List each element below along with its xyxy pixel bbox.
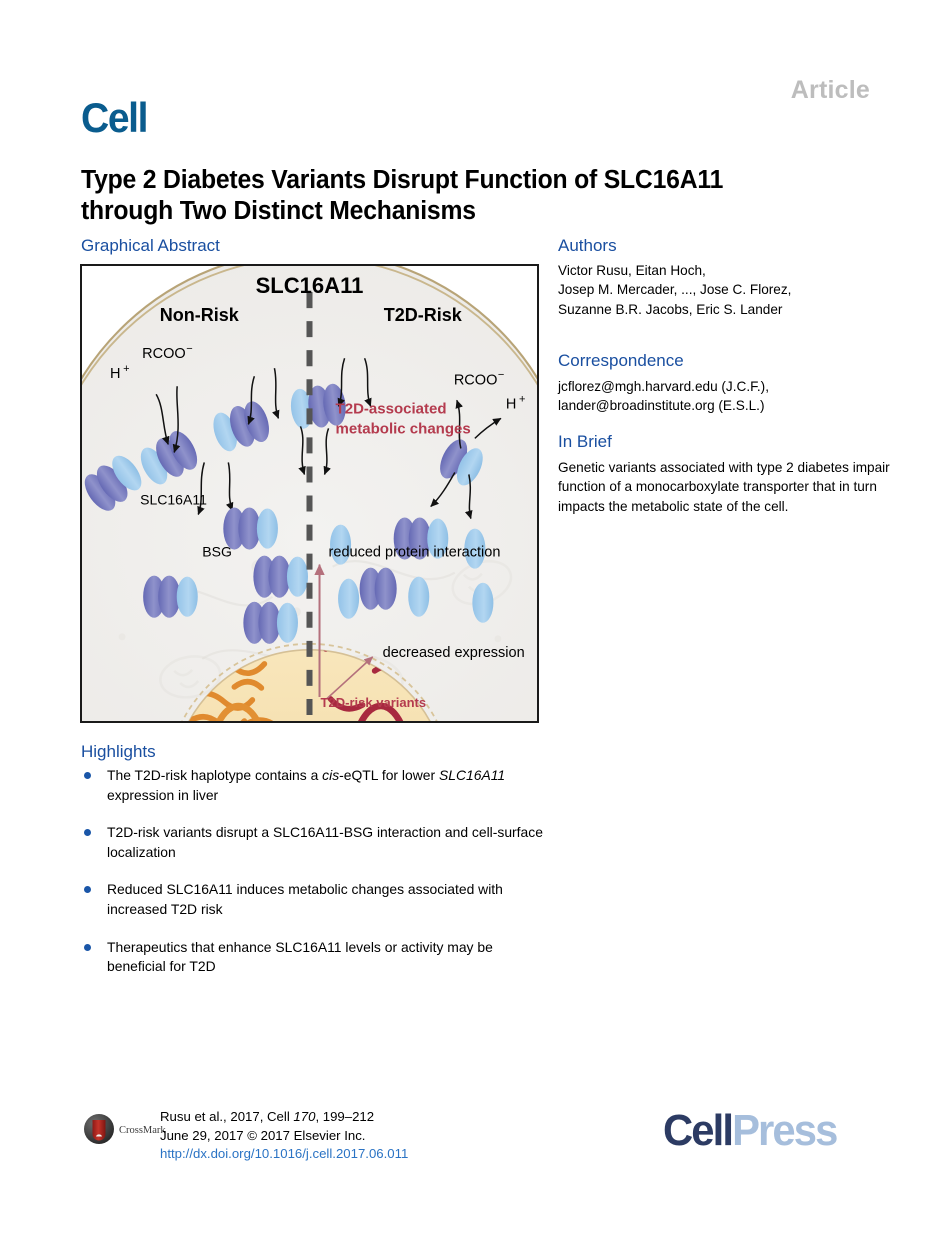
rcoo-label-left: RCOO (142, 346, 186, 362)
cell-journal-logo: Cell (81, 94, 147, 142)
correspondence-email-jcf[interactable]: jcflorez@mgh.harvard.edu (J.C.F.), (558, 377, 888, 396)
highlight-text: Reduced SLC16A11 induces metabolic chang… (107, 881, 503, 917)
reduced-interaction-label: reduced protein interaction (329, 545, 501, 561)
authors-heading: Authors (558, 236, 617, 256)
cellpress-press: Press (732, 1106, 836, 1155)
metabolic-changes-line1: T2D-associated (336, 400, 447, 417)
highlight-bullet-icon (84, 829, 91, 836)
svg-text:−: − (498, 369, 504, 381)
highlight-text: T2D-risk variants disrupt a SLC16A11-BSG… (107, 824, 543, 860)
authors-line: Josep M. Mercader, ..., Jose C. Florez, (558, 280, 888, 299)
in-brief-heading: In Brief (558, 432, 612, 452)
highlight-text: The T2D-risk haplotype contains a cis-eQ… (107, 767, 505, 803)
highlights-list: The T2D-risk haplotype contains a cis-eQ… (81, 766, 551, 995)
t2drisk-panel-label: T2D-Risk (384, 305, 463, 325)
highlight-item: The T2D-risk haplotype contains a cis-eQ… (81, 766, 551, 805)
page-title: Type 2 Diabetes Variants Disrupt Functio… (81, 165, 818, 227)
decreased-expression-label: decreased expression (383, 645, 525, 661)
slc16a11-label: SLC16A11 (140, 492, 207, 508)
bsg-label: BSG (202, 544, 232, 560)
doi-link[interactable]: http://dx.doi.org/10.1016/j.cell.2017.06… (160, 1145, 408, 1164)
article-type-label: Article (791, 76, 870, 105)
highlights-heading: Highlights (81, 742, 156, 762)
correspondence-email-esl[interactable]: lander@broadinstitute.org (E.S.L.) (558, 396, 888, 415)
h-label-right: H (506, 396, 516, 412)
cellpress-logo: CellPress (663, 1106, 836, 1156)
nonrisk-panel-label: Non-Risk (160, 305, 240, 325)
citation-line-1: Rusu et al., 2017, Cell 170, 199–212 (160, 1108, 408, 1127)
paper-cover-page: Article Cell Type 2 Diabetes Variants Di… (0, 0, 950, 1234)
citation-text-start: Rusu et al., 2017, Cell (160, 1109, 293, 1124)
highlight-bullet-icon (84, 886, 91, 893)
highlight-item: T2D-risk variants disrupt a SLC16A11-BSG… (81, 823, 551, 862)
crossmark-logo[interactable]: CrossMark (83, 1112, 167, 1146)
citation-pages: , 199–212 (315, 1109, 374, 1124)
svg-text:+: + (519, 393, 525, 405)
metabolic-changes-line2: metabolic changes (336, 420, 471, 437)
citation-volume: 170 (293, 1109, 315, 1124)
citation-block: Rusu et al., 2017, Cell 170, 199–212 Jun… (160, 1108, 408, 1164)
in-brief-text: Genetic variants associated with type 2 … (558, 458, 893, 516)
authors-line: Victor Rusu, Eitan Hoch, (558, 261, 888, 280)
highlight-item: Reduced SLC16A11 induces metabolic chang… (81, 880, 551, 919)
figure-title: SLC16A11 (256, 273, 364, 298)
svg-text:−: − (186, 343, 192, 355)
correspondence-list: jcflorez@mgh.harvard.edu (J.C.F.), lande… (558, 377, 888, 416)
correspondence-heading: Correspondence (558, 351, 684, 371)
authors-line: Suzanne B.R. Jacobs, Eric S. Lander (558, 300, 888, 319)
authors-list: Victor Rusu, Eitan Hoch, Josep M. Mercad… (558, 261, 888, 319)
highlight-bullet-icon (84, 772, 91, 779)
cellpress-cell: Cell (663, 1106, 732, 1155)
graphical-abstract-heading: Graphical Abstract (81, 236, 220, 256)
svg-text:+: + (123, 363, 129, 375)
t2d-risk-variants-label: T2D-risk variants (321, 695, 427, 710)
graphical-abstract-figure: SLC16A11 Non-Risk T2D-Risk RCOO − H + RC… (80, 264, 539, 723)
citation-line-2: June 29, 2017 © 2017 Elsevier Inc. (160, 1127, 408, 1146)
highlight-item: Therapeutics that enhance SLC16A11 level… (81, 938, 551, 977)
rcoo-label-right: RCOO (454, 372, 498, 388)
highlight-text: Therapeutics that enhance SLC16A11 level… (107, 939, 493, 975)
crossmark-glyph (93, 1120, 106, 1141)
figure-canvas: SLC16A11 Non-Risk T2D-Risk RCOO − H + RC… (82, 266, 537, 721)
h-label-left: H (110, 366, 120, 382)
highlight-bullet-icon (84, 944, 91, 951)
